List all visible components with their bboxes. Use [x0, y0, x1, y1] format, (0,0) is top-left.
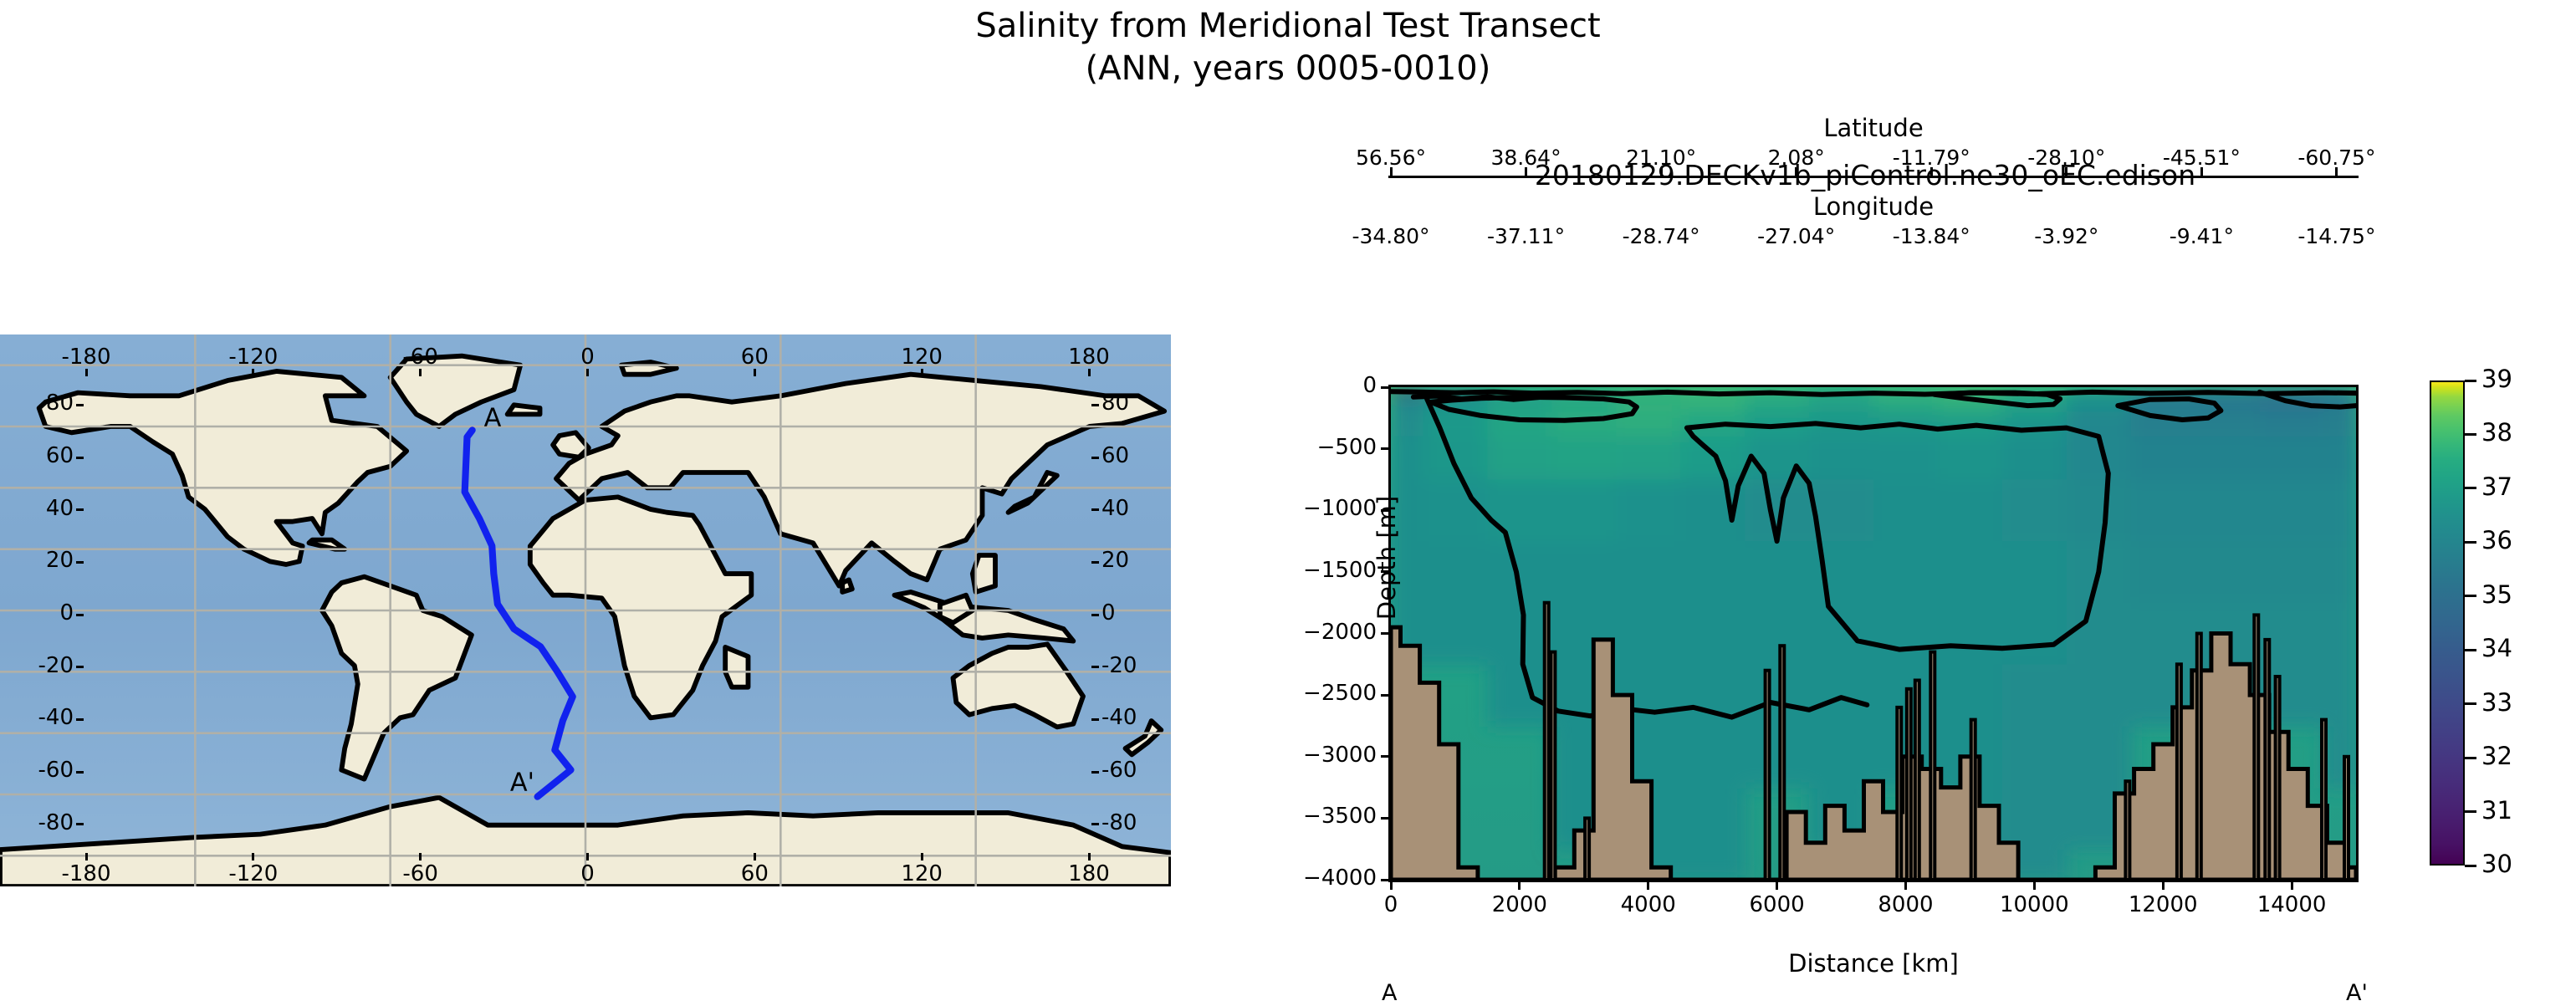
salinity-cell — [1938, 664, 2003, 727]
salinity-cell — [2324, 437, 2357, 481]
bathymetry-spike — [2265, 640, 2269, 880]
distance-tick-label: 14000 — [2225, 892, 2359, 917]
secondary-axis-tick-mark — [1930, 167, 1933, 176]
map-ytick-mark — [1091, 457, 1099, 459]
salinity-cell — [2131, 603, 2196, 666]
transect-start-marker: A — [1382, 980, 1397, 1006]
longitude-tick-label: -27.04° — [1738, 224, 1855, 248]
distance-tick-mark — [2033, 882, 2036, 890]
map-xtick-mark — [252, 853, 254, 860]
depth-tick-label: −1000 — [1276, 496, 1377, 521]
depth-tick-mark — [1381, 755, 1388, 758]
map-ytick-label-right: 60 — [1101, 443, 1160, 468]
bathymetry-spike — [1585, 818, 1589, 880]
distance-tick-mark — [1904, 882, 1907, 890]
map-ytick-label-left: -60 — [15, 758, 74, 783]
map-ytick-mark — [1091, 404, 1099, 406]
colorbar-tick-mark — [2465, 757, 2476, 759]
salinity-cell — [2195, 479, 2261, 542]
map-ytick-label-right: -40 — [1101, 705, 1160, 730]
salinity-cell — [1809, 603, 1874, 666]
salinity-cell — [1487, 437, 1552, 481]
distance-tick-label: 6000 — [1710, 892, 1844, 917]
distance-tick-label: 8000 — [1838, 892, 1972, 917]
distance-tick-mark — [2291, 882, 2293, 890]
salinity-cell — [2002, 541, 2067, 604]
salinity-cell — [1680, 393, 1745, 412]
salinity-cell — [1616, 603, 1681, 666]
map-xtick-label-bottom: 180 — [1039, 861, 1139, 886]
latitude-tick-label: 56.56° — [1332, 146, 1449, 170]
map-ytick-mark — [76, 823, 84, 825]
salinity-cell — [1938, 437, 2003, 481]
map-xtick-mark — [586, 369, 589, 376]
map-ytick-label-left: 0 — [15, 600, 74, 626]
colorbar-tick-label: 39 — [2481, 365, 2512, 393]
salinity-cell — [2067, 664, 2132, 727]
colorbar-panel: 39383736353433323130 PSU — [2430, 380, 2576, 866]
map-xtick-mark — [1088, 853, 1091, 860]
map-ytick-mark — [1091, 508, 1099, 511]
salinity-cell — [1616, 541, 1681, 604]
map-xtick-mark — [252, 369, 254, 376]
salinity-cell — [1809, 437, 1874, 481]
map-ytick-label-right: -20 — [1101, 653, 1160, 678]
colorbar-tick-label: 32 — [2481, 742, 2512, 770]
longitude-tick-label: -34.80° — [1332, 224, 1449, 248]
map-ytick-mark — [1091, 666, 1099, 668]
distance-tick-mark — [1518, 882, 1521, 890]
world-map-graphic: A A' — [0, 334, 1008, 811]
salinity-cell — [2260, 541, 2325, 604]
bathymetry-spike — [2254, 615, 2258, 880]
map-ytick-mark — [76, 508, 84, 511]
secondary-axis-tick-mark — [1390, 167, 1393, 176]
map-ytick-mark — [1091, 718, 1099, 721]
secondary-axis-tick-mark — [1525, 167, 1527, 176]
secondary-axis-rule — [1388, 176, 2359, 178]
depth-tick-mark — [1381, 632, 1388, 635]
salinity-cell — [1551, 541, 1617, 604]
salinity-cell — [2260, 479, 2325, 542]
colorbar-tick-label: 31 — [2481, 796, 2512, 825]
map-xtick-mark — [754, 853, 756, 860]
depth-tick-label: −3000 — [1276, 743, 1377, 768]
colorbar-tick-label: 33 — [2481, 688, 2512, 717]
map-xtick-label-top: -120 — [203, 345, 304, 370]
map-ytick-label-left: -80 — [15, 810, 74, 835]
depth-tick-label: −2000 — [1276, 620, 1377, 645]
map-xtick-mark — [85, 853, 88, 860]
depth-tick-label: −3500 — [1276, 804, 1377, 829]
bathymetry-spike — [1766, 671, 1770, 880]
map-xtick-mark — [586, 853, 589, 860]
salinity-cell — [1745, 541, 1810, 604]
map-xtick-mark — [419, 369, 422, 376]
bathymetry-spike — [2177, 664, 2181, 880]
salinity-cell — [2002, 726, 2067, 789]
figure-title: Salinity from Meridional Test Transect (… — [0, 5, 2576, 90]
bathymetry-spike — [1897, 707, 1901, 880]
distance-tick-label: 12000 — [2096, 892, 2230, 917]
salinity-cell — [2002, 479, 2067, 542]
landmass — [508, 405, 540, 414]
salinity-cell — [2131, 479, 2196, 542]
map-xtick-label-top: -60 — [371, 345, 471, 370]
depth-tick-mark — [1381, 570, 1388, 573]
secondary-axis-tick-mark — [2200, 167, 2203, 176]
map-xtick-label-bottom: -120 — [203, 861, 304, 886]
salinity-cell — [2324, 479, 2357, 542]
salinity-cell — [1745, 393, 1810, 412]
map-ytick-mark — [1091, 823, 1099, 825]
map-xtick-mark — [921, 369, 923, 376]
map-xtick-mark — [85, 369, 88, 376]
salinity-cell — [2324, 726, 2357, 789]
map-ytick-mark — [76, 561, 84, 564]
depth-tick-label: −4000 — [1276, 866, 1377, 891]
salinity-cell — [1423, 437, 1489, 481]
map-xtick-label-bottom: 120 — [871, 861, 972, 886]
salinity-cell — [2324, 664, 2357, 727]
salinity-cell — [2067, 412, 2132, 438]
landmass — [842, 580, 852, 592]
salinity-cell — [1680, 726, 1745, 789]
salinity-cell — [1423, 479, 1489, 542]
map-xtick-label-top: 60 — [704, 345, 805, 370]
salinity-cell — [2067, 726, 2132, 789]
salinity-cell — [1423, 603, 1489, 666]
map-xtick-label-bottom: 60 — [704, 861, 805, 886]
distance-tick-mark — [1390, 882, 1393, 890]
bathymetry-spike — [2125, 781, 2129, 880]
depth-axis-label: Depth [m] — [1372, 416, 1401, 700]
salinity-cell — [2195, 437, 2261, 481]
salinity-cell — [1873, 541, 1939, 604]
colorbar-tick-mark — [2465, 595, 2476, 597]
map-ytick-label-right: 80 — [1101, 391, 1160, 416]
distance-tick-label: 0 — [1324, 892, 1458, 917]
bathymetry-spike — [2344, 757, 2349, 880]
distance-tick-label: 2000 — [1453, 892, 1587, 917]
longitude-tick-label: -28.74° — [1602, 224, 1720, 248]
bathymetry-spike — [1915, 681, 1919, 881]
distance-tick-label: 10000 — [1967, 892, 2101, 917]
depth-tick-mark — [1381, 447, 1388, 450]
colorbar-tick-mark — [2465, 433, 2476, 436]
map-ytick-label-left: -40 — [15, 705, 74, 730]
map-xtick-mark — [1088, 369, 1091, 376]
map-ytick-mark — [76, 457, 84, 459]
secondary-axis-tick-mark — [2065, 167, 2067, 176]
colorbar-tick-label: 34 — [2481, 634, 2512, 662]
colorbar-tick-label: 38 — [2481, 418, 2512, 447]
depth-tick-label: −1500 — [1276, 558, 1377, 583]
map-ytick-mark — [1091, 771, 1099, 774]
bathymetry-spike — [1551, 652, 1555, 880]
longitude-tick-label: -9.41° — [2143, 224, 2260, 248]
colorbar-tick-mark — [2465, 380, 2476, 382]
salinity-cell — [1551, 479, 1617, 542]
salinity-cell — [2002, 788, 2067, 850]
depth-tick-mark — [1381, 509, 1388, 512]
bathymetry-spike — [1930, 652, 1935, 880]
salinity-cell — [2260, 412, 2325, 438]
bathymetry-spike — [1780, 646, 1784, 880]
transect-axes[interactable] — [1388, 385, 2359, 882]
salinity-cell — [1809, 726, 1874, 789]
colorbar-tick-mark — [2465, 541, 2476, 544]
map-ytick-mark — [76, 404, 84, 406]
secondary-axis-tick-mark — [2335, 167, 2338, 176]
map-xtick-mark — [754, 369, 756, 376]
distance-tick-mark — [1776, 882, 1778, 890]
colorbar-tick-label: 37 — [2481, 472, 2512, 501]
map-ytick-label-right: 20 — [1101, 548, 1160, 573]
bathymetry-spike — [1907, 689, 1911, 880]
salinity-cell — [1616, 479, 1681, 542]
map-ytick-mark — [76, 771, 84, 774]
depth-tick-label: −2500 — [1276, 681, 1377, 706]
map-ytick-mark — [1091, 561, 1099, 564]
salinity-cell — [2324, 393, 2357, 412]
salinity-cell — [2131, 541, 2196, 604]
bathymetry-spike — [1545, 603, 1549, 880]
salinity-cell — [1873, 437, 1939, 481]
map-ytick-mark — [76, 614, 84, 616]
landmass — [725, 647, 748, 687]
bathymetry-spike — [1971, 720, 1975, 880]
colorbar-tick-label: 35 — [2481, 580, 2512, 609]
world-map-axes[interactable]: A A' — [0, 334, 1008, 811]
secondary-axis-tick-mark — [1660, 167, 1663, 176]
latitude-tick-label: -60.75° — [2278, 146, 2395, 170]
colorbar-tick-label: 36 — [2481, 526, 2512, 554]
depth-tick-label: −500 — [1276, 435, 1377, 460]
colorbar-tick-mark — [2465, 810, 2476, 813]
transect-panel: Latitude 56.56°38.64°21.10°2.08°-11.79°-… — [1305, 125, 2476, 962]
colorbar-tick-mark — [2465, 865, 2476, 867]
salinity-cell — [1938, 541, 2003, 604]
salinity-cell — [2067, 603, 2132, 666]
salinity-cell — [2324, 412, 2357, 438]
depth-tick-mark — [1381, 879, 1388, 881]
depth-tick-mark — [1381, 386, 1388, 389]
transect-end-marker: A' — [2346, 980, 2368, 1006]
salinity-cell — [2002, 437, 2067, 481]
depth-tick-mark — [1381, 817, 1388, 820]
world-map-panel: A A' -180-120-60060120180 -180-120-60060… — [0, 334, 1171, 886]
map-ytick-label-right: -80 — [1101, 810, 1160, 835]
salinity-cell — [1680, 541, 1745, 604]
salinity-cell — [2002, 603, 2067, 666]
salinity-cell — [2131, 437, 2196, 481]
map-start-label: A — [484, 404, 502, 433]
longitude-axis-label: Longitude — [1388, 192, 2359, 221]
salinity-cell — [1745, 726, 1810, 789]
map-xtick-label-top: -180 — [36, 345, 136, 370]
map-xtick-mark — [921, 853, 923, 860]
longitude-tick-label: -3.92° — [2008, 224, 2125, 248]
latitude-tick-label: -28.10° — [2008, 146, 2125, 170]
salinity-contour — [1391, 391, 2356, 395]
map-xtick-mark — [419, 853, 422, 860]
map-ytick-mark — [76, 666, 84, 668]
map-xtick-label-bottom: -60 — [371, 861, 471, 886]
depth-tick-mark — [1381, 694, 1388, 697]
salinity-section-graphic — [1391, 387, 2356, 880]
bathymetry-spike — [2322, 720, 2326, 880]
salinity-cell — [1873, 479, 1939, 542]
salinity-cell — [1423, 541, 1489, 604]
salinity-cell — [1616, 437, 1681, 481]
salinity-cell — [1680, 788, 1745, 850]
latitude-tick-label: -45.51° — [2143, 146, 2260, 170]
salinity-cell — [1680, 603, 1745, 666]
map-xtick-label-bottom: 0 — [538, 861, 638, 886]
map-xtick-label-bottom: -180 — [36, 861, 136, 886]
latitude-tick-label: -11.79° — [1873, 146, 1990, 170]
map-ytick-label-left: 60 — [15, 443, 74, 468]
salinity-cell — [1680, 437, 1745, 481]
salinity-cell — [1938, 603, 2003, 666]
distance-axis-label: Distance [km] — [1388, 949, 2359, 978]
salinity-cell — [1938, 479, 2003, 542]
longitude-tick-label: -37.11° — [1468, 224, 1585, 248]
latitude-axis-label: Latitude — [1388, 114, 2359, 142]
map-xtick-label-top: 120 — [871, 345, 972, 370]
map-ytick-label-right: -60 — [1101, 758, 1160, 783]
salinity-cell — [1745, 664, 1810, 727]
distance-tick-label: 4000 — [1582, 892, 1715, 917]
colorbar-tick-mark — [2465, 702, 2476, 705]
longitude-tick-label: -14.75° — [2278, 224, 2395, 248]
distance-tick-mark — [1647, 882, 1649, 890]
latitude-tick-label: 2.08° — [1738, 146, 1855, 170]
salinity-cell — [2067, 479, 2132, 542]
map-ytick-mark — [1091, 614, 1099, 616]
salinity-cell — [2324, 541, 2357, 604]
secondary-axis-tick-mark — [1795, 167, 1797, 176]
salinity-cell — [2260, 437, 2325, 481]
map-ytick-label-left: 20 — [15, 548, 74, 573]
salinity-cell — [2002, 664, 2067, 727]
figure-title-line2: (ANN, years 0005-0010) — [0, 48, 2576, 90]
salinity-cell — [1745, 603, 1810, 666]
bathymetry-spike — [2197, 634, 2201, 881]
map-end-label: A' — [510, 769, 534, 798]
colorbar-gradient[interactable] — [2430, 380, 2465, 866]
latitude-tick-label: 38.64° — [1468, 146, 1585, 170]
bathymetry-spike — [2276, 677, 2280, 880]
longitude-tick-label: -13.84° — [1873, 224, 1990, 248]
salinity-cell — [1551, 437, 1617, 481]
map-xtick-label-top: 0 — [538, 345, 638, 370]
map-ytick-label-left: 40 — [15, 496, 74, 521]
map-xtick-label-top: 180 — [1039, 345, 1139, 370]
colorbar-tick-mark — [2465, 487, 2476, 489]
colorbar-tick-label: 30 — [2481, 850, 2512, 878]
figure-title-line1: Salinity from Meridional Test Transect — [975, 7, 1600, 45]
salinity-cell — [2002, 412, 2067, 438]
salinity-cell — [1487, 479, 1552, 542]
distance-tick-mark — [2162, 882, 2165, 890]
map-ytick-mark — [76, 718, 84, 721]
depth-tick-label: 0 — [1276, 373, 1377, 398]
salinity-cell — [1680, 849, 1745, 880]
salinity-cell — [2195, 541, 2261, 604]
map-ytick-label-right: 0 — [1101, 600, 1160, 626]
colorbar-tick-mark — [2465, 649, 2476, 651]
latitude-tick-label: 21.10° — [1602, 146, 1720, 170]
map-ytick-label-right: 40 — [1101, 496, 1160, 521]
map-ytick-label-left: -20 — [15, 653, 74, 678]
salinity-cell — [2324, 603, 2357, 666]
map-ytick-label-left: 80 — [15, 391, 74, 416]
